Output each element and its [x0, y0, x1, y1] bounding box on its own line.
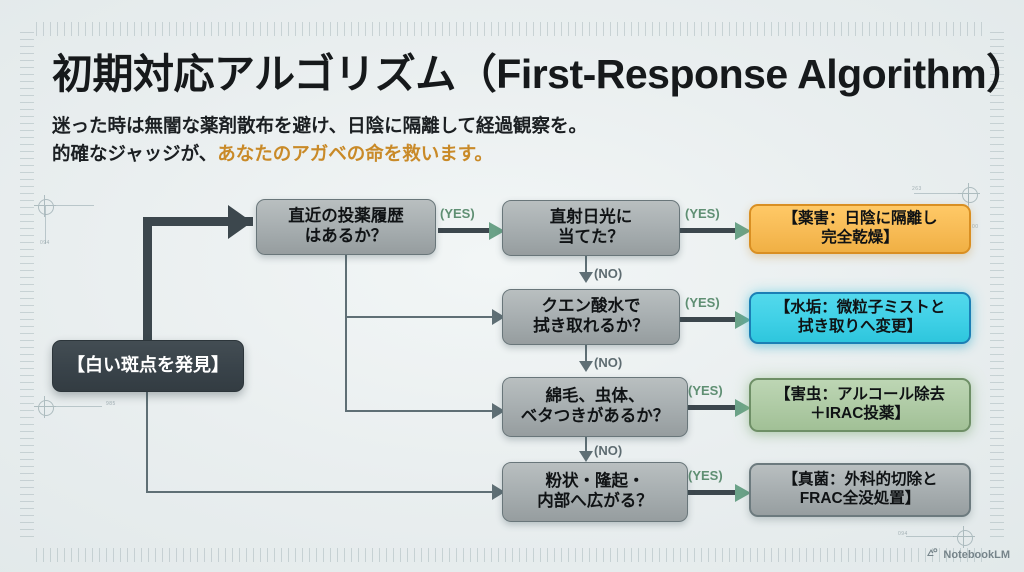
node-decision-d5-text: 粉状・隆起・ 内部へ広がる？: [537, 472, 653, 512]
node-outcome-o2-line1: 【水垢：微粒子ミストと: [775, 299, 946, 318]
slide-canvas: 094 985 263 00 094 初期対応アルゴリズム（First-Resp…: [0, 0, 1024, 572]
edge-label-d3-no: (NO): [594, 355, 622, 370]
page-subtitle: 迷った時は無闇な薬剤散布を避け、日陰に隔離して経過観察を。 的確なジャッジが、あ…: [52, 112, 752, 168]
node-outcome-o2-text: 【水垢：微粒子ミストと 拭き取りへ変更】: [775, 299, 946, 336]
registration-mark-bottom-left: [34, 396, 56, 418]
start-connector-corner: [143, 217, 170, 244]
node-decision-d4-text: 綿毛、虫体、 ベタつきがあるか？: [521, 387, 670, 427]
node-decision-d4-line2: ベタつきがあるか？: [521, 407, 670, 427]
node-decision-d4[interactable]: 綿毛、虫体、 ベタつきがあるか？: [502, 377, 688, 437]
lead-line-bl: [56, 406, 102, 407]
mark-label-c: 263: [912, 186, 922, 192]
node-outcome-o3-line1: 【害虫：アルコール除去: [775, 386, 945, 405]
node-outcome-o1[interactable]: 【薬害：日陰に隔離し 完全乾燥】: [749, 204, 971, 254]
edge-d4-no-arrowhead: [579, 451, 593, 462]
node-decision-d2-text: 直射日光に 当てた？: [550, 208, 633, 248]
edge-label-d2-no: (NO): [594, 266, 622, 281]
subtitle-line-2-plain: 的確なジャッジが、: [52, 143, 217, 164]
edge-label-d2-yes: (YES): [685, 206, 720, 221]
mark-label-e: 094: [898, 531, 908, 537]
node-decision-d5-line2: 内部へ広がる？: [537, 492, 653, 512]
ruler-top-ticks: [36, 22, 988, 36]
page-title: 初期対応アルゴリズム（First-Response Algorithm）: [52, 40, 982, 100]
node-decision-d1-text: 直近の投薬履歴 はあるか？: [288, 207, 404, 247]
edge-d2-no-arrowhead: [579, 272, 593, 283]
node-outcome-o2-line2: 拭き取りへ変更】: [775, 318, 946, 337]
node-decision-d5[interactable]: 粉状・隆起・ 内部へ広がる？: [502, 462, 688, 522]
edge-d4-yes-line: [688, 405, 742, 410]
registration-mark-top-right: [958, 183, 980, 205]
ruler-left-ticks: [20, 32, 34, 540]
node-outcome-o3[interactable]: 【害虫：アルコール除去 ＋IRAC投薬】: [749, 378, 971, 432]
edge-start-to-d5-horizontal: [146, 491, 492, 493]
node-decision-d3-line2: 拭き取れるか？: [533, 317, 649, 337]
node-start[interactable]: 【白い斑点を発見】: [52, 340, 244, 392]
node-outcome-o2[interactable]: 【水垢：微粒子ミストと 拭き取りへ変更】: [749, 292, 971, 344]
edge-d3-no-arrowhead: [579, 361, 593, 372]
node-decision-d2-line1: 直射日光に: [550, 208, 633, 228]
registration-mark-bottom-right: [953, 526, 975, 548]
subtitle-line-2-highlight: あなたのアガベの命を救います。: [217, 143, 493, 164]
node-outcome-o4[interactable]: 【真菌：外科的切除と FRAC全没処置】: [749, 463, 971, 517]
node-outcome-o1-line1: 【薬害：日陰に隔離し: [782, 210, 937, 229]
edge-label-d4-no: (NO): [594, 443, 622, 458]
start-connector-vertical: [143, 226, 152, 346]
edge-d1-yes-line: [438, 228, 493, 233]
node-decision-d1-line1: 直近の投薬履歴: [288, 207, 404, 227]
node-decision-d3[interactable]: クエン酸水で 拭き取れるか？: [502, 289, 680, 345]
mark-label-b: 985: [106, 401, 116, 407]
node-outcome-o4-line2: FRAC全没処置】: [782, 490, 937, 509]
node-decision-d1[interactable]: 直近の投薬履歴 はあるか？: [256, 199, 436, 255]
node-decision-d4-line1: 綿毛、虫体、: [521, 387, 670, 407]
mark-label-d: 00: [972, 224, 979, 230]
edge-label-d3-yes: (YES): [685, 295, 720, 310]
edge-d5-yes-line: [688, 490, 742, 495]
ruler-bottom-ticks: [36, 548, 988, 562]
node-decision-d3-text: クエン酸水で 拭き取れるか？: [533, 297, 649, 337]
start-connector-arrowhead: [228, 205, 252, 239]
subtitle-line-1: 迷った時は無闇な薬剤散布を避け、日陰に隔離して経過観察を。: [52, 112, 752, 140]
edge-d1-no-to-d3: [345, 316, 492, 318]
node-outcome-o3-text: 【害虫：アルコール除去 ＋IRAC投薬】: [775, 386, 945, 423]
node-outcome-o1-text: 【薬害：日陰に隔離し 完全乾燥】: [782, 210, 937, 247]
edge-label-d5-yes: (YES): [688, 468, 723, 483]
node-decision-d2[interactable]: 直射日光に 当てた？: [502, 200, 680, 256]
notebooklm-watermark: NotebookLM: [926, 547, 1010, 562]
node-start-label: 【白い斑点を発見】: [67, 355, 229, 377]
mark-label-a: 094: [40, 240, 50, 246]
edge-d1-no-trunk: [345, 254, 347, 412]
node-outcome-o4-line1: 【真菌：外科的切除と: [782, 471, 937, 490]
lead-line-tl: [56, 205, 94, 206]
node-decision-d1-line2: はあるか？: [288, 227, 404, 247]
node-outcome-o4-text: 【真菌：外科的切除と FRAC全没処置】: [782, 471, 937, 508]
node-outcome-o3-line2: ＋IRAC投薬】: [775, 405, 945, 424]
node-decision-d5-line1: 粉状・隆起・: [537, 472, 653, 492]
subtitle-line-2: 的確なジャッジが、あなたのアガベの命を救います。: [52, 140, 752, 168]
lead-line-tl-v: [45, 206, 46, 244]
node-outcome-o1-line2: 完全乾燥】: [782, 229, 937, 248]
ruler-right-ticks: [990, 32, 1004, 540]
node-decision-d3-line1: クエン酸水で: [533, 297, 649, 317]
notebooklm-label: NotebookLM: [943, 549, 1010, 561]
node-decision-d2-line2: 当てた？: [550, 228, 633, 248]
lead-line-tr: [914, 193, 958, 194]
edge-start-to-d5-vertical: [146, 388, 148, 493]
notebooklm-logo-icon: [926, 547, 938, 562]
edge-label-d1-yes: (YES): [440, 206, 475, 221]
edge-label-d4-yes: (YES): [688, 383, 723, 398]
edge-d3-yes-line: [680, 317, 742, 322]
edge-d2-yes-line: [680, 228, 742, 233]
edge-d1-no-to-d4: [345, 410, 492, 412]
lead-line-br: [906, 536, 954, 537]
